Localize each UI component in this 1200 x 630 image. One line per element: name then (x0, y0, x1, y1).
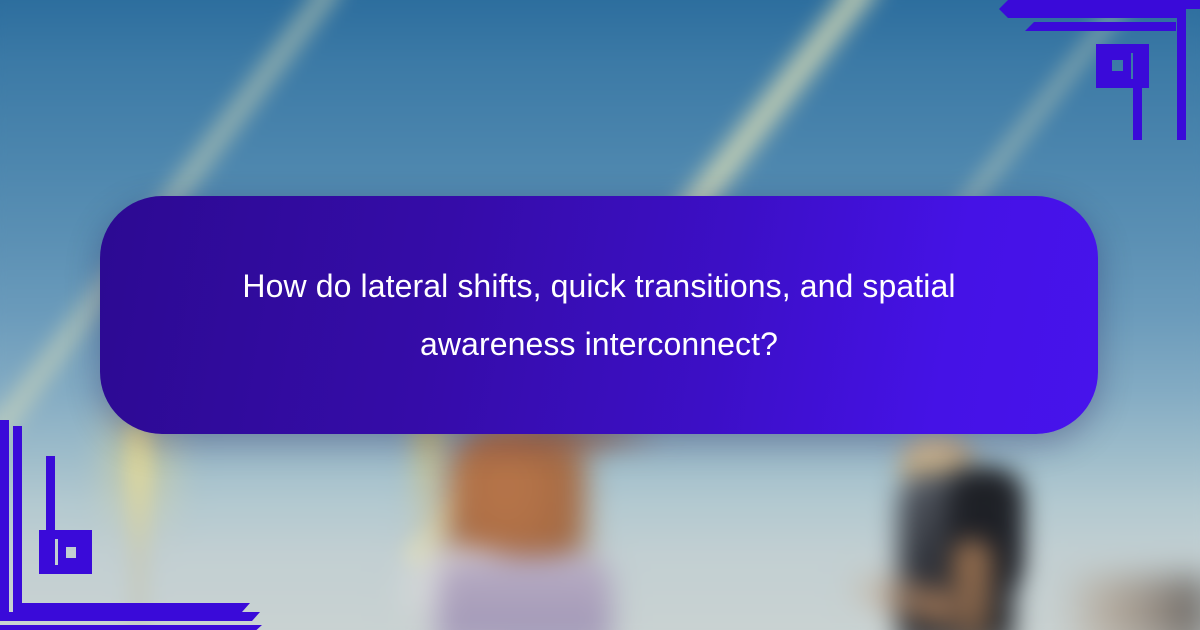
question-text: How do lateral shifts, quick transitions… (204, 257, 994, 373)
social-card-canvas: How do lateral shifts, quick transitions… (0, 0, 1200, 630)
question-card: How do lateral shifts, quick transitions… (100, 196, 1098, 434)
